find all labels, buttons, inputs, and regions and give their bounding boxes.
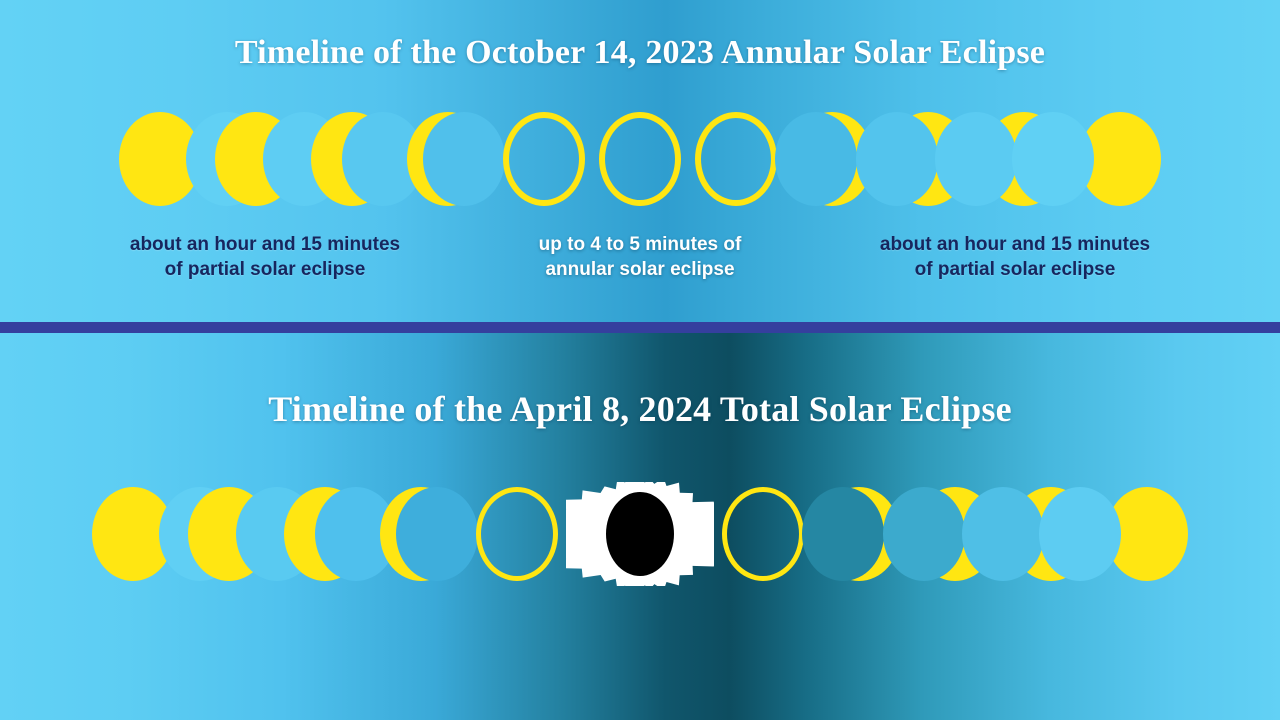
eclipse-phase-partial: [85, 482, 181, 586]
eclipse-phase-annular-ring: [469, 482, 565, 586]
caption-line-2: of partial solar eclipse: [55, 257, 475, 282]
caption-line-1: up to 4 to 5 minutes of: [475, 232, 805, 257]
eclipse-phase-partial: [400, 107, 496, 211]
moon-occlusion: [883, 487, 965, 581]
annular-eclipse-panel: Timeline of the October 14, 2023 Annular…: [0, 0, 1280, 322]
eclipse-phase-partial: [277, 482, 373, 586]
eclipse-phase-partial: [304, 107, 400, 211]
totality-group: [565, 478, 715, 590]
eclipse-phase-partial: [1099, 482, 1195, 586]
eclipse-timeline-infographic: Timeline of the October 14, 2023 Annular…: [0, 0, 1280, 720]
eclipse-phase-partial: [208, 107, 304, 211]
annular-panel-title: Timeline of the October 14, 2023 Annular…: [0, 34, 1280, 72]
annular-phase-row: [0, 104, 1280, 214]
total-panel-title: Timeline of the April 8, 2024 Total Sola…: [0, 388, 1280, 430]
moon-occlusion: [1012, 112, 1094, 206]
ring-of-fire: [599, 112, 681, 206]
moon-umbra-disc: [606, 492, 674, 576]
caption-line-2: of partial solar eclipse: [805, 257, 1225, 282]
eclipse-phase-partial: [112, 107, 208, 211]
eclipse-caption: up to 4 to 5 minutes ofannular solar ecl…: [475, 232, 805, 283]
moon-occlusion: [962, 487, 1044, 581]
eclipse-caption: about an hour and 15 minutesof partial s…: [805, 232, 1225, 283]
eclipse-phase-totality: [565, 482, 715, 586]
moon-occlusion: [396, 487, 478, 581]
moon-occlusion: [775, 112, 857, 206]
caption-line-2: annular solar eclipse: [475, 257, 805, 282]
eclipse-phase-annular-ring: [496, 107, 592, 211]
eclipse-phase-annular-ring: [715, 482, 811, 586]
ring-of-fire: [722, 487, 804, 581]
eclipse-phase-partial: [1072, 107, 1168, 211]
eclipse-caption: about an hour and 15 minutesof partial s…: [55, 232, 475, 283]
ring-of-fire: [476, 487, 558, 581]
total-phase-row: [0, 479, 1280, 589]
moon-occlusion: [802, 487, 884, 581]
annular-caption-row: about an hour and 15 minutesof partial s…: [0, 232, 1280, 283]
caption-line-1: about an hour and 15 minutes: [805, 232, 1225, 257]
ring-of-fire: [695, 112, 777, 206]
panel-divider: [0, 322, 1280, 333]
caption-line-1: about an hour and 15 minutes: [55, 232, 475, 257]
eclipse-phase-annular-ring: [592, 107, 688, 211]
ring-of-fire: [503, 112, 585, 206]
moon-occlusion: [935, 112, 1017, 206]
eclipse-phase-partial: [181, 482, 277, 586]
moon-occlusion: [423, 112, 505, 206]
total-eclipse-panel: Timeline of the April 8, 2024 Total Sola…: [0, 333, 1280, 720]
moon-occlusion: [856, 112, 938, 206]
eclipse-phase-partial: [373, 482, 469, 586]
eclipse-phase-annular-ring: [688, 107, 784, 211]
moon-occlusion: [1039, 487, 1121, 581]
